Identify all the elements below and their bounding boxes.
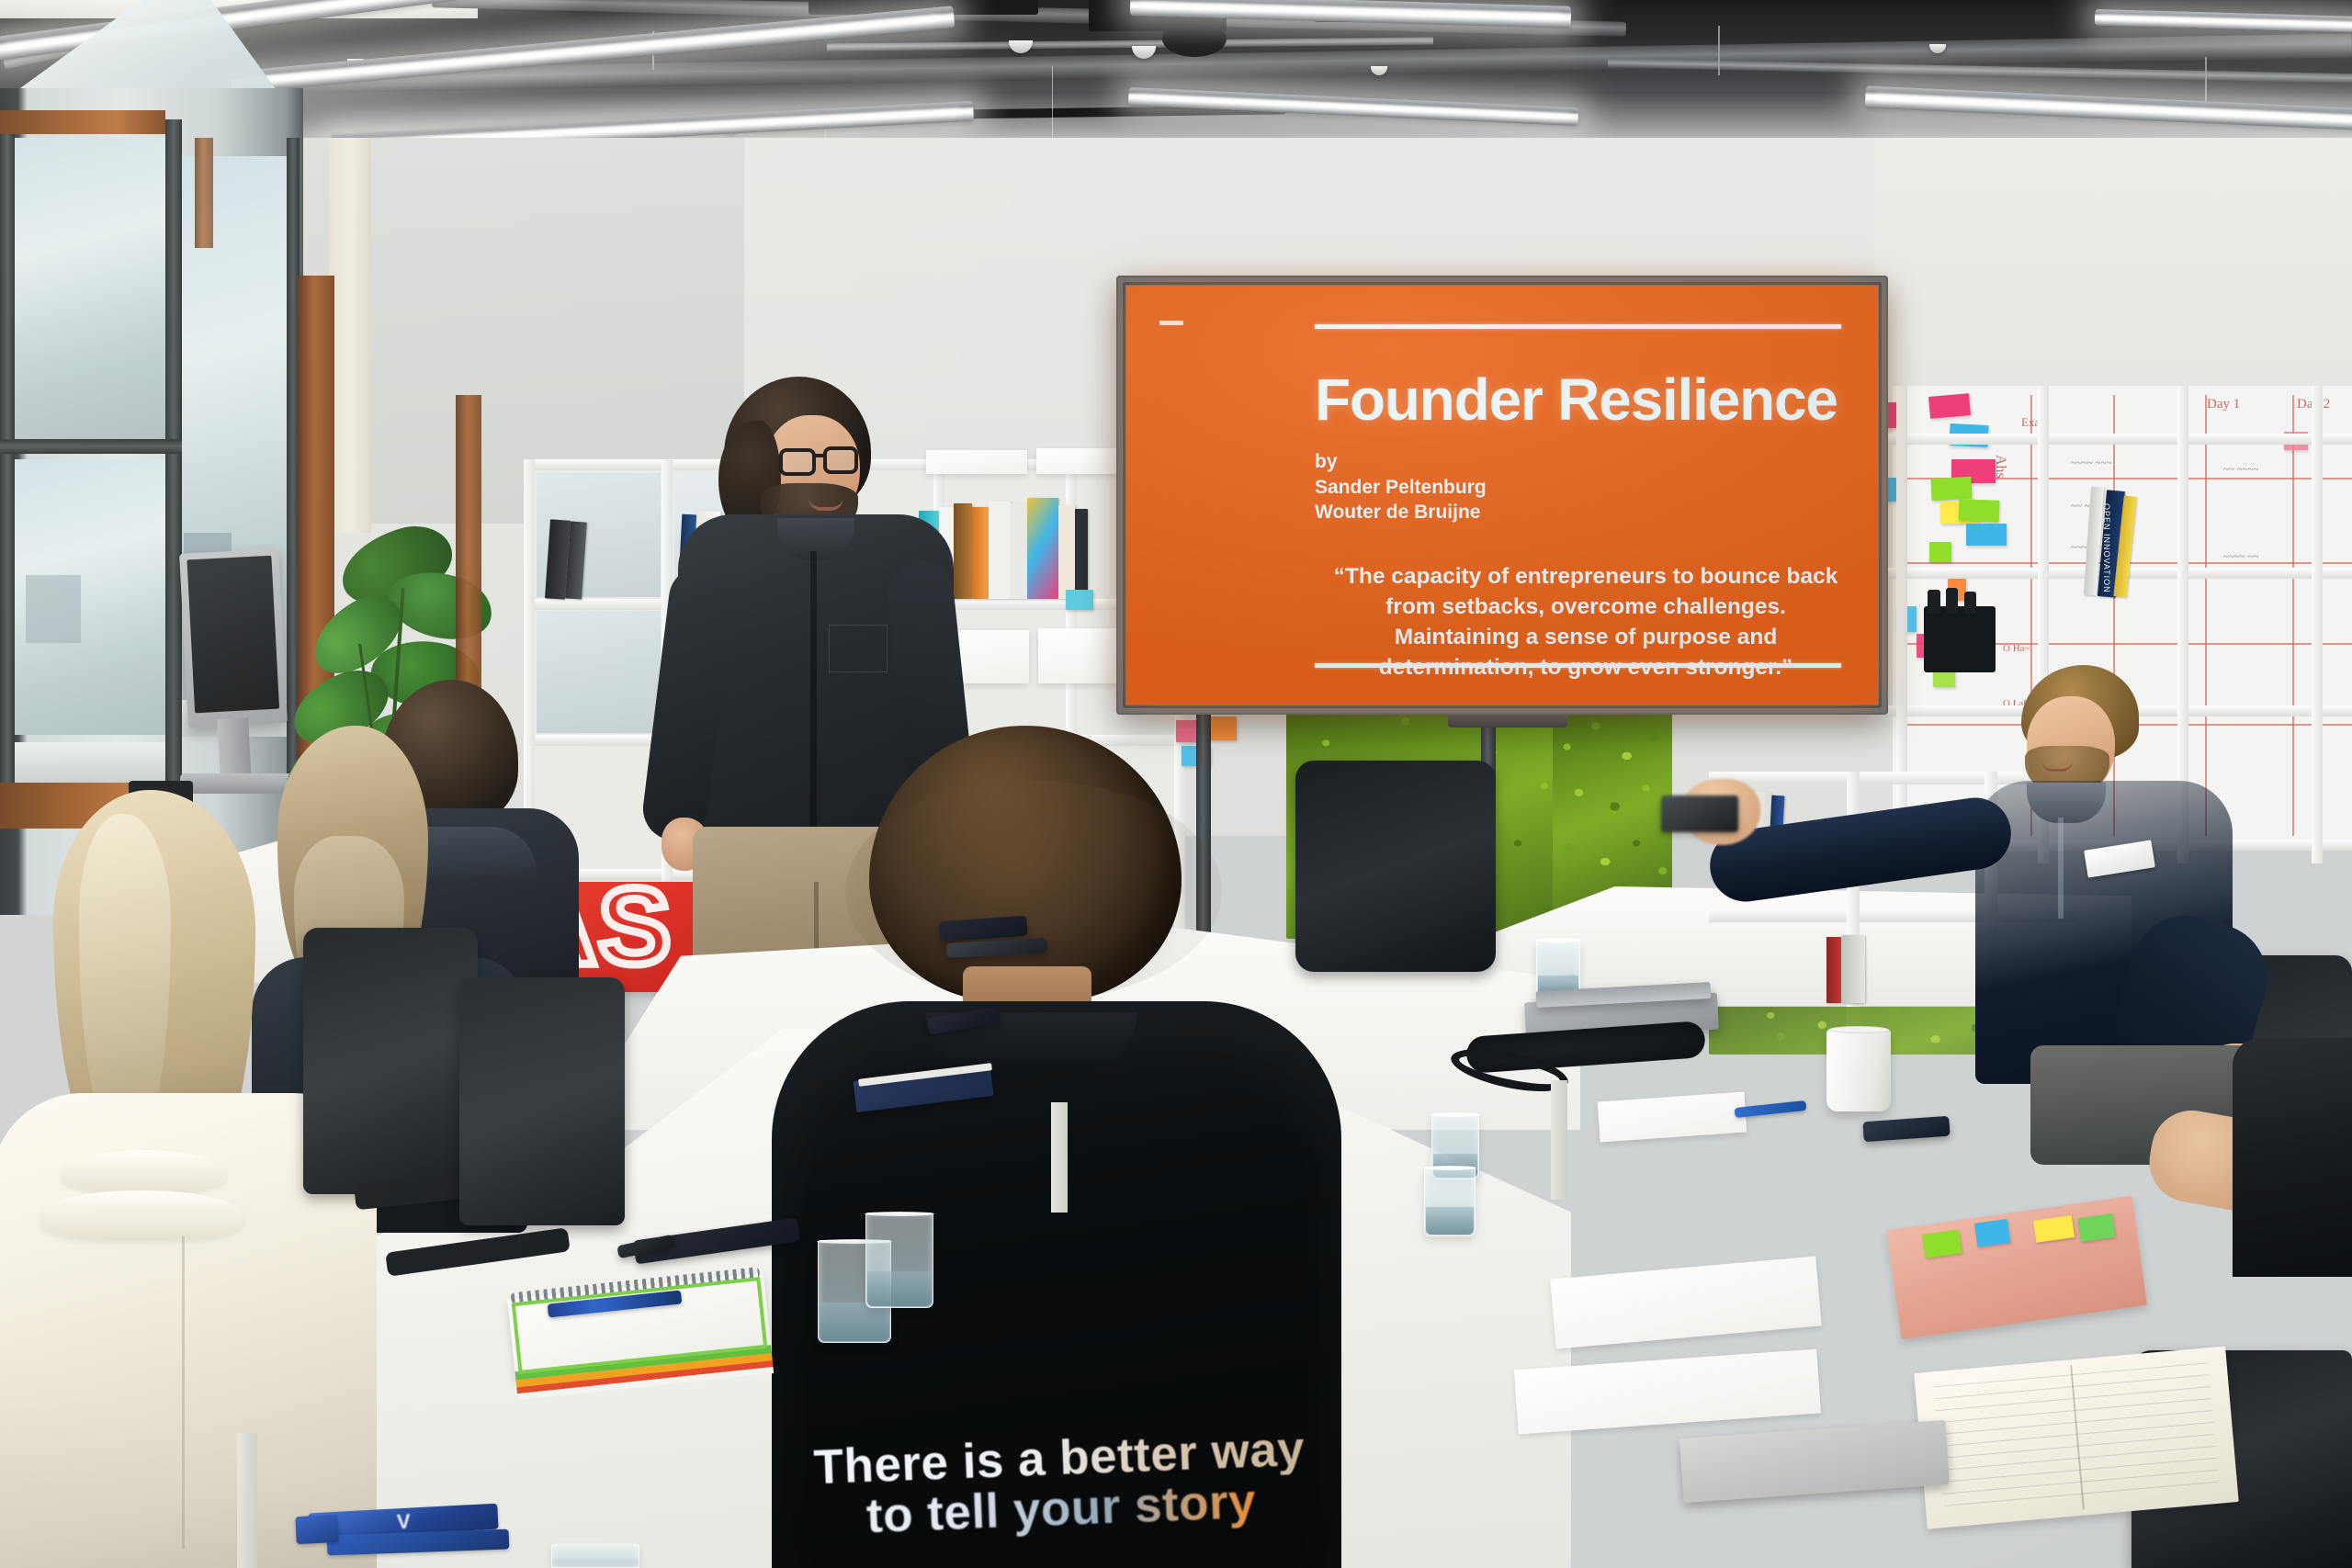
shelf-book-multi (1027, 498, 1058, 599)
book-spine-label-open-innovation: OPEN INNOVATION (2102, 503, 2111, 593)
wall-column-left (329, 138, 371, 533)
shelf-marker-cup-3 (1964, 592, 1976, 614)
attendee-blonde1-ruffle-2 (40, 1190, 243, 1240)
person-attendee-far-right (2233, 1038, 2352, 1277)
shelf-marker-cup (1928, 590, 1940, 614)
main-table-leg-left (237, 1433, 257, 1568)
shelf-book-white-3 (1011, 503, 1027, 599)
sticky-note-on-notebook-4 (2077, 1213, 2115, 1242)
city-building-3 (26, 575, 81, 643)
shelf-marker-cup-2 (1946, 588, 1958, 614)
shelf-book-dark (1075, 509, 1088, 599)
attendee-blonde1-ruffle-1 (61, 1150, 226, 1192)
presenter-glasses-left-lens (779, 448, 816, 476)
slide-byline: by Sander Peltenburg Wouter de Bruijne (1315, 449, 1487, 525)
presenter-glasses-right-lens (823, 446, 858, 474)
shelf-sheet-4 (1038, 628, 1126, 683)
ceiling-equipment-box-c (1162, 20, 1227, 57)
presenter-glasses-bridge (814, 454, 825, 457)
mug-white-middle-table (1826, 1029, 1891, 1111)
window-wood-post-far (195, 138, 213, 248)
monitor-left (179, 548, 288, 728)
window-transom (0, 439, 182, 454)
attendee-right-zip (2058, 818, 2064, 919)
attendee-blonde1-hair-part (79, 814, 171, 1126)
sticky-note-on-notebook-3 (2033, 1215, 2075, 1243)
glass-front-table-2 (865, 1213, 933, 1308)
slide-author-1: Sander Peltenburg (1315, 475, 1487, 501)
window-glass-upper (11, 138, 165, 441)
middle-table-leg-2 (1551, 1080, 1567, 1200)
middle-table-leg (1051, 1102, 1068, 1213)
notebook-pink-right (1886, 1196, 2147, 1339)
sticky-note-shelf-teal (1066, 590, 1093, 610)
shelf-sheet-2 (1036, 448, 1125, 474)
slide-author-2: Wouter de Bruijne (1315, 500, 1487, 525)
chair-center-back (1295, 761, 1496, 972)
tshirt-slogan: There is a better way to tell your story (792, 1423, 1329, 1545)
paper-sheet-front-right (1550, 1257, 1822, 1349)
window-wood-head (0, 110, 165, 134)
light-hanger-5 (2205, 57, 2207, 103)
slide-rule-top (1315, 324, 1841, 329)
tablet-front-center (1679, 1420, 1950, 1503)
notebook-spiral-front (507, 1273, 771, 1379)
light-hanger-4 (1718, 26, 1720, 75)
window-mullion-v2 (165, 119, 182, 818)
sticky-note-on-notebook-1 (1922, 1229, 1962, 1258)
slide-title: Founder Resilience (1315, 370, 1845, 429)
photograph-scene: Day 1 Day 2 Exam ~~~~ ~~~ ~~ ~~~ ~~~ ~~~… (0, 0, 2352, 1568)
glass-middle-table-3 (1424, 1167, 1476, 1236)
slide-dash-marker (1159, 321, 1183, 325)
monitor-screen (187, 556, 279, 714)
chair-left-1 (303, 928, 478, 1194)
balcony-railing-left (6, 742, 171, 784)
glass-bottom-edge (551, 1543, 639, 1568)
notebook-open-far-right (1914, 1347, 2239, 1529)
presentation-slide: Founder Resilience by Sander Peltenburg … (1126, 286, 1878, 705)
pen-front-left-1-label: V (396, 1510, 411, 1535)
tv-stand-foot (1448, 715, 1567, 728)
attendee-far-right-torso (2233, 1038, 2352, 1277)
chair-left-2 (459, 977, 625, 1225)
window-mullion-v1 (0, 119, 15, 818)
sticky-note-on-notebook-2 (1974, 1219, 2010, 1247)
slide-by-label: by (1315, 449, 1487, 475)
presenter-remote (1661, 795, 1738, 832)
attendee-blonde1-shoulder-seam (182, 1236, 185, 1549)
shelf-board (1874, 434, 2352, 445)
presenter-pocket (829, 625, 888, 672)
shelf-book-cream (1058, 505, 1075, 599)
pen-cap-front-left (295, 1515, 339, 1544)
